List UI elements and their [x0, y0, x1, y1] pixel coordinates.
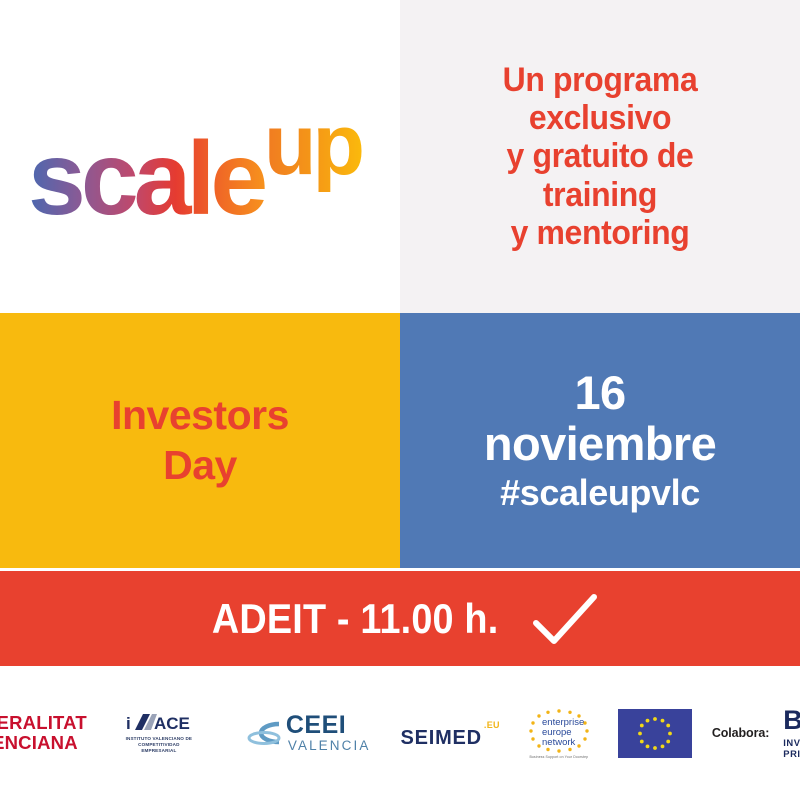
investors-line-1: Investors [111, 391, 289, 440]
seimed-suffix: .EU [484, 720, 500, 730]
seimed-name: SEIMED [400, 728, 481, 748]
logo-ceei-valencia: CEEI VALENCIA [245, 713, 371, 753]
ceei-text: CEEI VALENCIA [286, 713, 371, 753]
bigban-name: BIGBAN [783, 707, 800, 734]
date-day: 16 [484, 368, 716, 419]
investors-line-2: Day [111, 441, 289, 490]
scaleup-logo-icon: scale up [28, 96, 388, 236]
logo-generalitat-valenciana: GENERALITAT VALENCIANA [0, 707, 87, 759]
poster-root: scale up Un programa exclusivo y gratuit… [0, 0, 800, 800]
investors-day-panel: Investors Day [0, 313, 400, 568]
investors-day-text: Investors Day [111, 391, 289, 489]
event-date: 16 noviembre [484, 368, 716, 470]
svg-text:ACE: ACE [154, 714, 190, 733]
generalitat-line-2: VALENCIANA [0, 733, 87, 753]
logo-bigban: BIGBAN INVERSORES PRIVADOS [783, 707, 800, 759]
svg-text:i: i [126, 714, 131, 733]
ivace-subtitle: INSTITUTO VALENCIANO DE COMPETITIVIDAD E… [121, 736, 197, 754]
logo-seimed: SEIMED .EU [400, 719, 499, 748]
claim-line-1: Un programa [440, 61, 760, 99]
generalitat-text: GENERALITAT VALENCIANA [0, 713, 87, 752]
ivace-subtitle-line-2: COMPETITIVIDAD EMPRESARIAL [121, 742, 197, 754]
logo-enterprise-europe-network: enterprise europe network Business Suppo… [522, 708, 596, 759]
ceei-swoosh-icon [245, 717, 283, 749]
eu-flag-icon [618, 709, 692, 758]
scaleup-logo: scale up [28, 96, 388, 236]
svg-text:up: up [264, 97, 362, 193]
een-tagline: Business Support on Your Doorstep [529, 755, 588, 759]
bigban-subtitle: INVERSORES PRIVADOS [783, 737, 800, 759]
venue-time-text: ADEIT - 11.00 h. [212, 595, 498, 643]
ceei-subtitle: VALENCIA [286, 739, 371, 753]
generalitat-line-1: GENERALITAT [0, 713, 87, 733]
date-month: noviembre [484, 419, 716, 470]
event-hashtag: #scaleupvlc [500, 473, 700, 513]
svg-text:scale: scale [28, 121, 265, 236]
claim-line-4: training [440, 176, 760, 214]
claim-line-3: y gratuito de [440, 137, 760, 175]
claim-line-5: y mentoring [440, 214, 760, 252]
sponsor-footer: GENERALITAT VALENCIANA i ACE INSTITUTO V… [0, 666, 800, 800]
claim-panel: Un programa exclusivo y gratuito de trai… [400, 0, 800, 313]
een-stars-icon: enterprise europe network [522, 708, 596, 754]
claim-line-2: exclusivo [440, 99, 760, 137]
logo-panel: scale up [0, 0, 400, 313]
date-panel: 16 noviembre #scaleupvlc [400, 313, 800, 568]
ceei-name: CEEI [286, 713, 371, 738]
ivace-wordmark-icon: i ACE [126, 712, 192, 734]
een-line-3: network [542, 737, 576, 748]
colabora-label: Colabora: [712, 726, 769, 740]
logo-eu-flag [618, 709, 692, 758]
logo-ivace: i ACE INSTITUTO VALENCIANO DE COMPETITIV… [121, 712, 197, 754]
check-icon [526, 587, 604, 651]
claim-text: Un programa exclusivo y gratuito de trai… [440, 61, 760, 251]
venue-banner: ADEIT - 11.00 h. [0, 571, 800, 666]
